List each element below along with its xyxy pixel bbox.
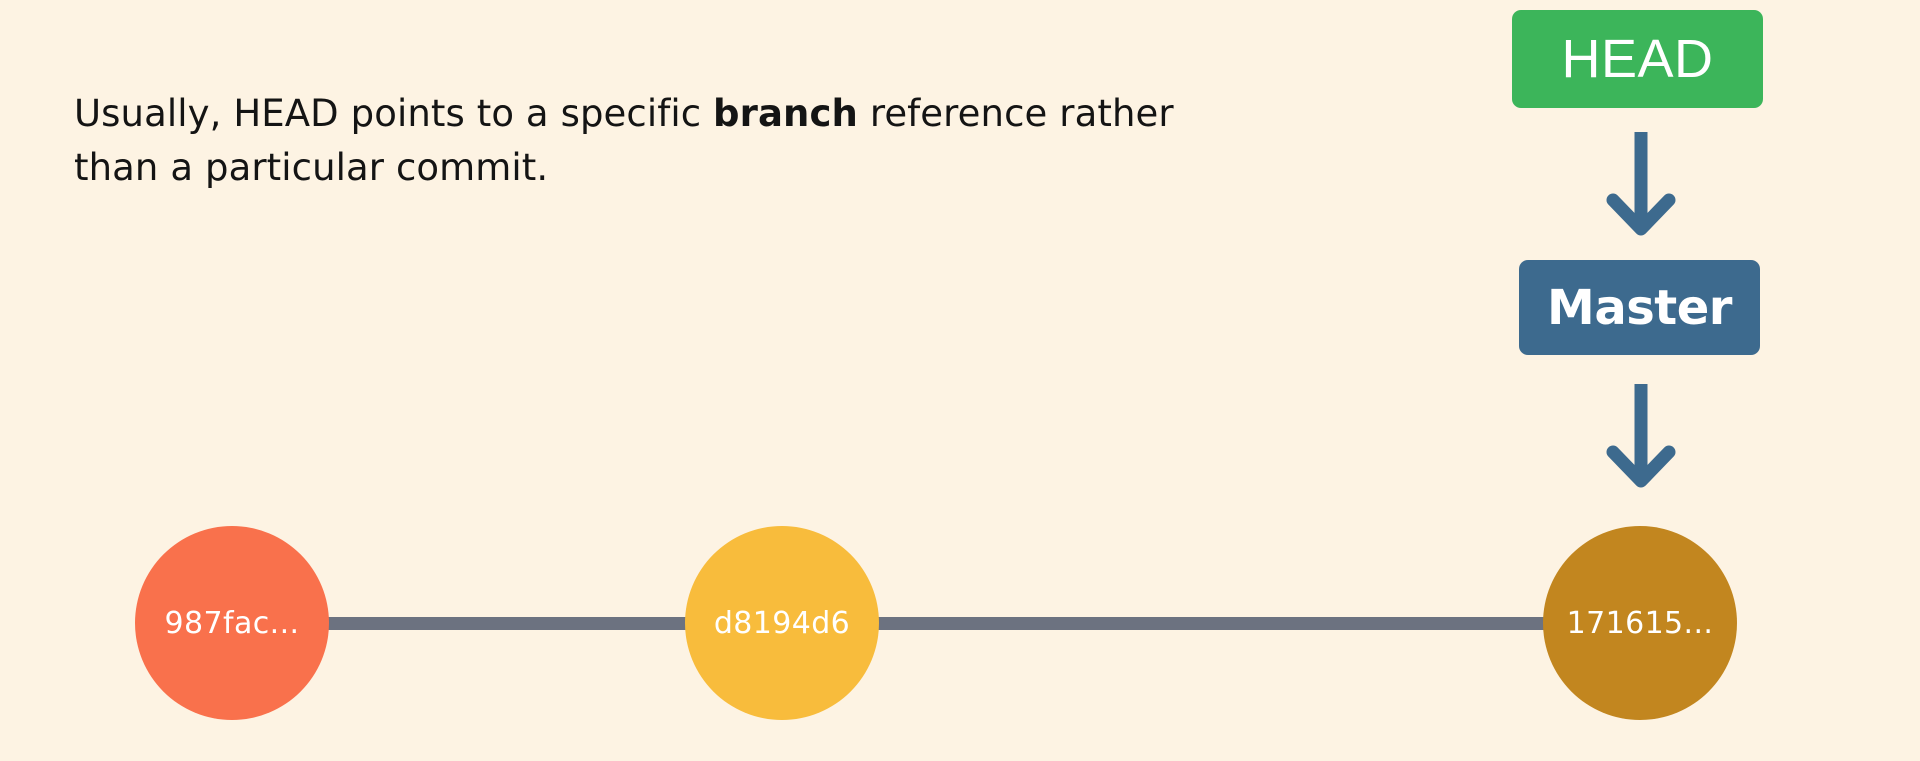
commit-hash-label: d8194d6 <box>714 606 850 641</box>
commit-node[interactable]: d8194d6 <box>685 526 879 720</box>
commit-node[interactable]: 171615... <box>1543 526 1737 720</box>
diagram-canvas: Usually, HEAD points to a specific branc… <box>0 0 1920 761</box>
commit-graph: 987fac... d8194d6 171615... <box>0 0 1920 761</box>
commit-hash-label: 987fac... <box>165 606 300 641</box>
commit-connector <box>870 617 1550 630</box>
commit-hash-label: 171615... <box>1567 606 1714 641</box>
commit-node[interactable]: 987fac... <box>135 526 329 720</box>
